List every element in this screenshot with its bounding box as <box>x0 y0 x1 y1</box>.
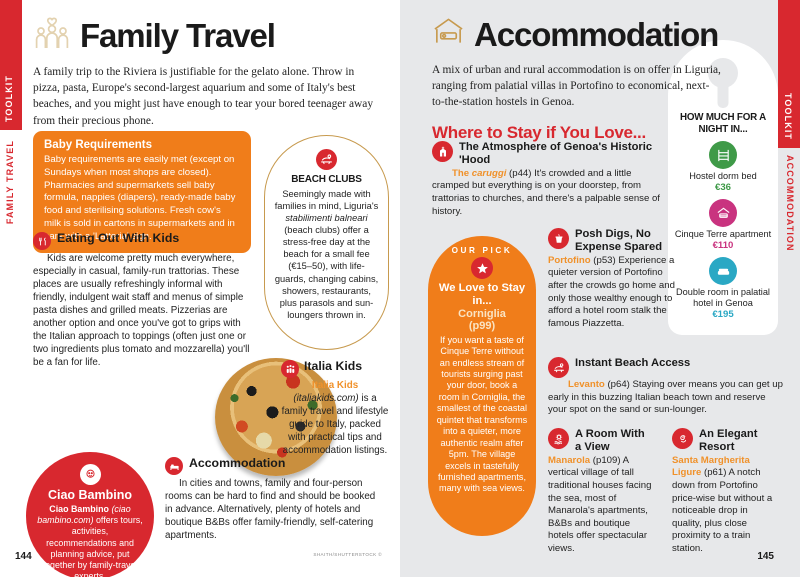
price-item-value: €195 <box>668 309 778 320</box>
page-title: Family Travel <box>80 19 275 52</box>
our-pick-place: Corniglia <box>458 308 506 321</box>
bed-outline-icon <box>432 16 465 53</box>
left-page-content: Family Travel A family trip to the Rivie… <box>33 16 383 129</box>
intro-paragraph-right: A mix of urban and rural accommodation i… <box>432 62 722 111</box>
accommodation-entry-title: Accommodation <box>189 457 285 471</box>
page-number-left: 144 <box>15 551 32 562</box>
italia-kids-entry: Italia Kids Italia Kids (italiakids.com)… <box>281 360 389 457</box>
kids-icon <box>281 360 299 378</box>
beach-clubs-body: Seemingly made with families in mind, Li… <box>265 188 388 321</box>
eating-out-body: Kids are welcome pretty much everywhere,… <box>33 252 251 369</box>
accommodation-entry-body: In cities and towns, family and four-per… <box>165 477 383 542</box>
price-item-label: Hostel dorm bed <box>668 171 778 182</box>
entry-body: Portofino (p53) Experience a quieter ver… <box>548 255 678 331</box>
intro-paragraph: A family trip to the Riviera is justifia… <box>33 64 378 129</box>
ciao-bambino-title: Ciao Bambino <box>48 488 132 502</box>
entry-title: Posh Digs, No Expense Spared <box>575 228 678 254</box>
cutlery-icon <box>33 232 51 250</box>
entry-body: The caruggi (p44) It's crowded and a lit… <box>432 168 664 219</box>
accommodation-entry-head: Accommodation <box>165 457 383 475</box>
price-panel: HOW MUCH FOR A NIGHT IN... Hostel dorm b… <box>668 112 778 326</box>
sun-sea-icon <box>548 428 569 449</box>
price-item-value: €36 <box>668 182 778 193</box>
entry-head: The Atmosphere of Genoa's Historic 'Hood <box>432 141 664 167</box>
magazine-spread: TOOLKIT FAMILY TRAVEL Family Travel <box>0 0 800 577</box>
left-page: TOOLKIT FAMILY TRAVEL Family Travel <box>0 0 400 577</box>
family-heart-icon <box>33 16 71 55</box>
ciao-bambino-body: Ciao Bambino (ciao bambino.com) offers t… <box>26 504 154 577</box>
price-item-label: Cinque Terre apartment <box>668 229 778 240</box>
price-item: Hostel dorm bed €36 <box>668 141 778 193</box>
beach-clubs-title: BEACH CLUBS <box>291 174 362 185</box>
our-pick-callout: OUR PICK We Love to Stay in... Corniglia… <box>428 236 536 536</box>
price-item-label: Double room in palatial hotel in Genoa <box>668 287 778 309</box>
photo-credit: SHAITH/SHUTTERSTOCK © <box>313 552 382 557</box>
accommodation-entry-left: Accommodation In cities and towns, famil… <box>165 457 383 542</box>
entry-head: Posh Digs, No Expense Spared <box>548 228 678 254</box>
our-pick-arc-label: OUR PICK <box>452 246 513 255</box>
star-icon <box>471 257 493 279</box>
right-page: TOOLKIT ACCOMMODATION HOW MUCH FOR A NIG… <box>400 0 800 577</box>
double-bed-icon <box>709 257 737 285</box>
church-icon <box>432 141 453 162</box>
entry-body: Santa Margherita Ligure (p61) A notch do… <box>672 455 780 556</box>
entry-body: Levanto (p64) Staying over means you can… <box>548 379 786 417</box>
entry-posh-digs: Posh Digs, No Expense Spared Portofino (… <box>548 228 678 330</box>
eating-out-entry: Eating Out With Kids Kids are welcome pr… <box>33 232 251 369</box>
tab-label-accommodation: ACCOMMODATION <box>785 155 795 252</box>
price-item-value: €110 <box>668 240 778 251</box>
tab-label-family-travel: FAMILY TRAVEL <box>5 140 15 224</box>
italia-kids-title: Italia Kids <box>304 360 362 374</box>
eating-out-head: Eating Out With Kids <box>33 232 251 250</box>
entry-room-with-a-view: A Room With a View Manarola (p109) A ver… <box>548 428 652 556</box>
tab-label-toolkit: TOOLKIT <box>4 75 14 122</box>
tab-strip-toolkit-right: TOOLKIT <box>778 0 800 148</box>
entry-title: An Elegant Resort <box>699 428 780 454</box>
tab-label-toolkit-right: TOOLKIT <box>783 93 793 140</box>
entry-head: An Elegant Resort <box>672 428 780 454</box>
italia-kids-body: Italia Kids (italiakids.com) is a family… <box>281 379 389 457</box>
section-heading: Where to Stay if You Love... <box>432 123 772 143</box>
entry-title: Instant Beach Access <box>575 357 690 370</box>
beach-lounger-icon <box>548 357 569 378</box>
our-pick-page-ref: (p99) <box>469 320 495 333</box>
right-page-content: Accommodation A mix of urban and rural a… <box>432 16 772 143</box>
page-number-right: 145 <box>757 551 774 562</box>
swirl-icon <box>672 428 693 449</box>
entry-head: Instant Beach Access <box>548 357 786 378</box>
ciao-bambino-callout: Ciao Bambino Ciao Bambino (ciao bambino.… <box>26 452 154 577</box>
entry-body: Manarola (p109) A vertical village of ta… <box>548 455 652 556</box>
page-title-row-right: Accommodation <box>432 16 772 53</box>
bunk-bed-icon <box>709 141 737 169</box>
baby-face-icon <box>80 464 101 485</box>
italia-kids-head: Italia Kids <box>281 360 389 378</box>
price-item: Double room in palatial hotel in Genoa €… <box>668 257 778 320</box>
apartment-bed-icon <box>709 199 737 227</box>
page-title-right: Accommodation <box>474 18 718 51</box>
eating-out-title: Eating Out With Kids <box>57 232 179 246</box>
entry-genoa-historic-hood: The Atmosphere of Genoa's Historic 'Hood… <box>432 141 664 218</box>
page-title-row: Family Travel <box>33 16 383 55</box>
our-pick-title: We Love to Stay in... <box>428 282 536 308</box>
price-item: Cinque Terre apartment €110 <box>668 199 778 251</box>
entry-title: The Atmosphere of Genoa's Historic 'Hood <box>459 141 664 167</box>
our-pick-body: If you want a taste of Cinque Terre with… <box>428 333 536 495</box>
baby-requirements-title: Baby Requirements <box>44 139 240 151</box>
entry-elegant-resort: An Elegant Resort Santa Margherita Ligur… <box>672 428 780 556</box>
beach-clubs-callout: BEACH CLUBS Seemingly made with families… <box>264 135 389 350</box>
entry-head: A Room With a View <box>548 428 652 454</box>
baby-requirements-body: Baby requirements are easily met (except… <box>44 154 240 243</box>
tab-strip-toolkit-left: TOOLKIT <box>0 0 22 130</box>
beach-lounger-icon <box>316 149 337 170</box>
champagne-bucket-icon <box>548 228 569 249</box>
entry-title: A Room With a View <box>575 428 652 454</box>
bed-icon <box>165 457 183 475</box>
entry-instant-beach-access: Instant Beach Access Levanto (p64) Stayi… <box>548 357 786 417</box>
